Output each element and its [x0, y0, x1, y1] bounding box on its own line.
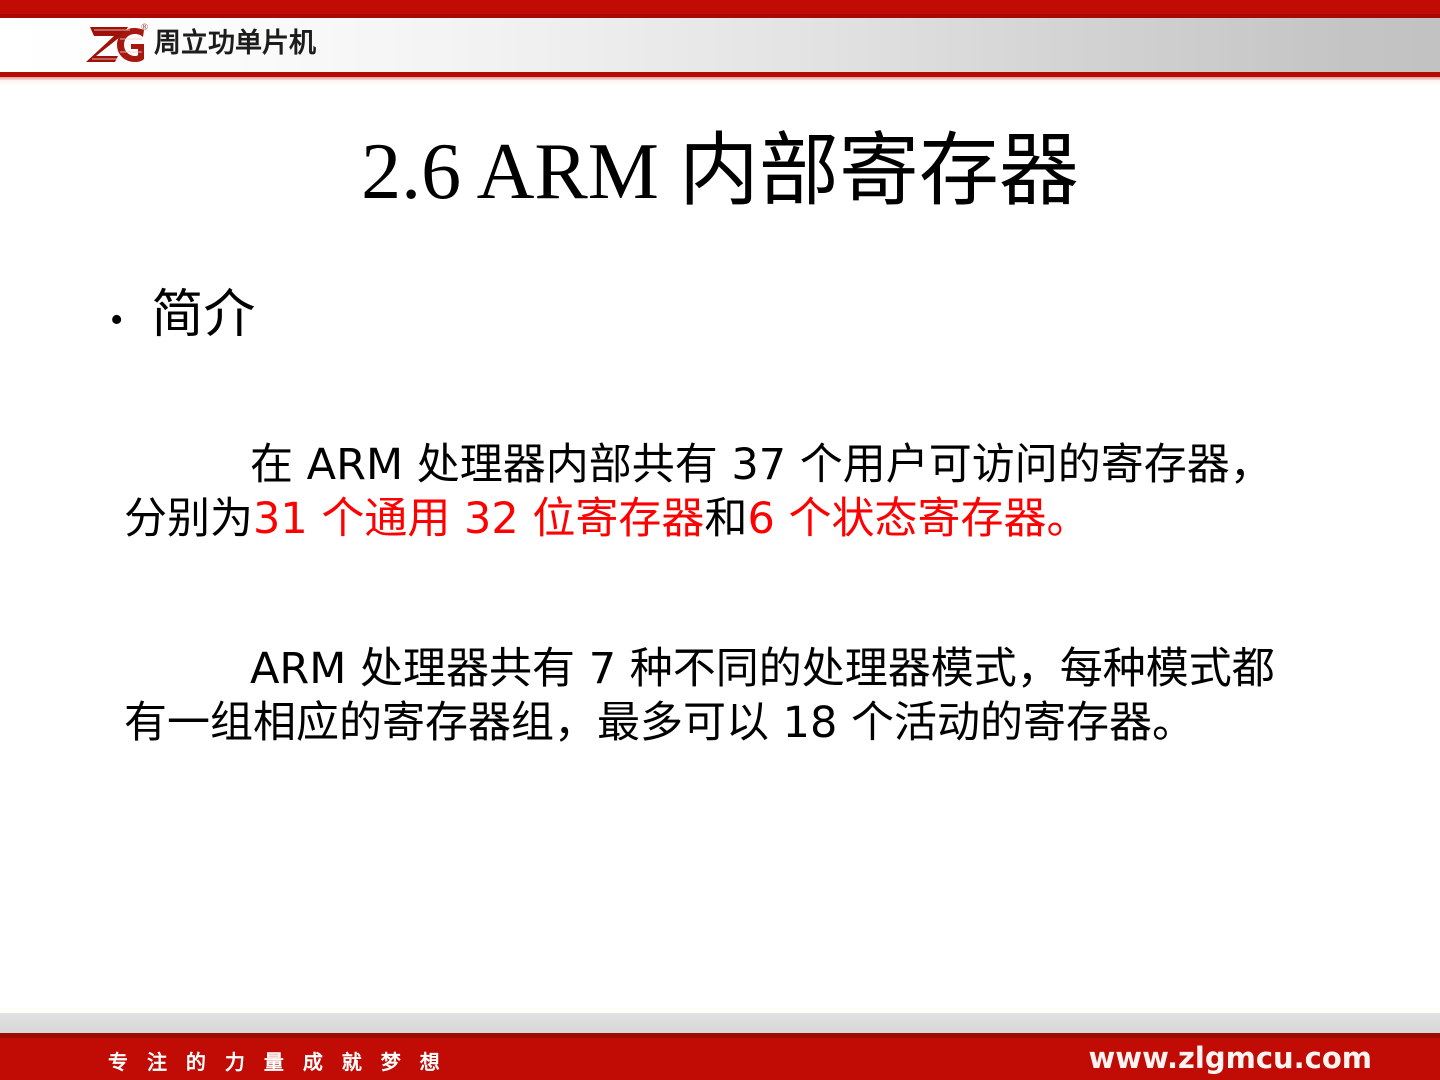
- slide-header: ® 周立功单片机: [0, 0, 1440, 86]
- brand-logo-block: ® 周立功单片机: [84, 16, 316, 70]
- registered-trademark-icon: ®: [141, 22, 148, 32]
- bullet-marker-icon: •: [110, 301, 123, 339]
- header-fade-rule: [0, 80, 1440, 85]
- paragraph-1-highlight-2: 6 个状态寄存器。: [747, 494, 1089, 544]
- brand-name-label: 周立功单片机: [154, 30, 316, 57]
- slide-footer: 专 注 的 力 量 成 就 梦 想 www.zlgmcu.com: [0, 1008, 1440, 1080]
- presentation-slide: ® 周立功单片机 2.6 ARM 内部寄存器 • 简介 在 ARM 处理器内部共…: [0, 0, 1440, 1080]
- paragraph-1-segment-3: 和: [704, 494, 747, 544]
- paragraph-2-text: ARM 处理器共有 7 种不同的处理器模式，每种模式都有一组相应的寄存器组，最多…: [124, 644, 1275, 748]
- bullet-item-intro: • 简介: [110, 290, 255, 342]
- footer-gray-strip: [0, 1013, 1440, 1033]
- body-paragraph-1: 在 ARM 处理器内部共有 37 个用户可访问的寄存器，分别为31 个通用 32…: [124, 438, 1304, 546]
- slide-title: 2.6 ARM 内部寄存器: [0, 132, 1440, 212]
- body-paragraph-2: ARM 处理器共有 7 种不同的处理器模式，每种模式都有一组相应的寄存器组，最多…: [124, 642, 1304, 750]
- footer-slogan-label: 专 注 的 力 量 成 就 梦 想: [108, 1046, 446, 1075]
- footer-website-link[interactable]: www.zlgmcu.com: [1088, 1041, 1372, 1075]
- bullet-item-label: 简介: [151, 290, 255, 342]
- paragraph-1-highlight-1: 31 个通用 32 位寄存器: [253, 494, 704, 544]
- zlg-logo-icon: ®: [84, 22, 146, 64]
